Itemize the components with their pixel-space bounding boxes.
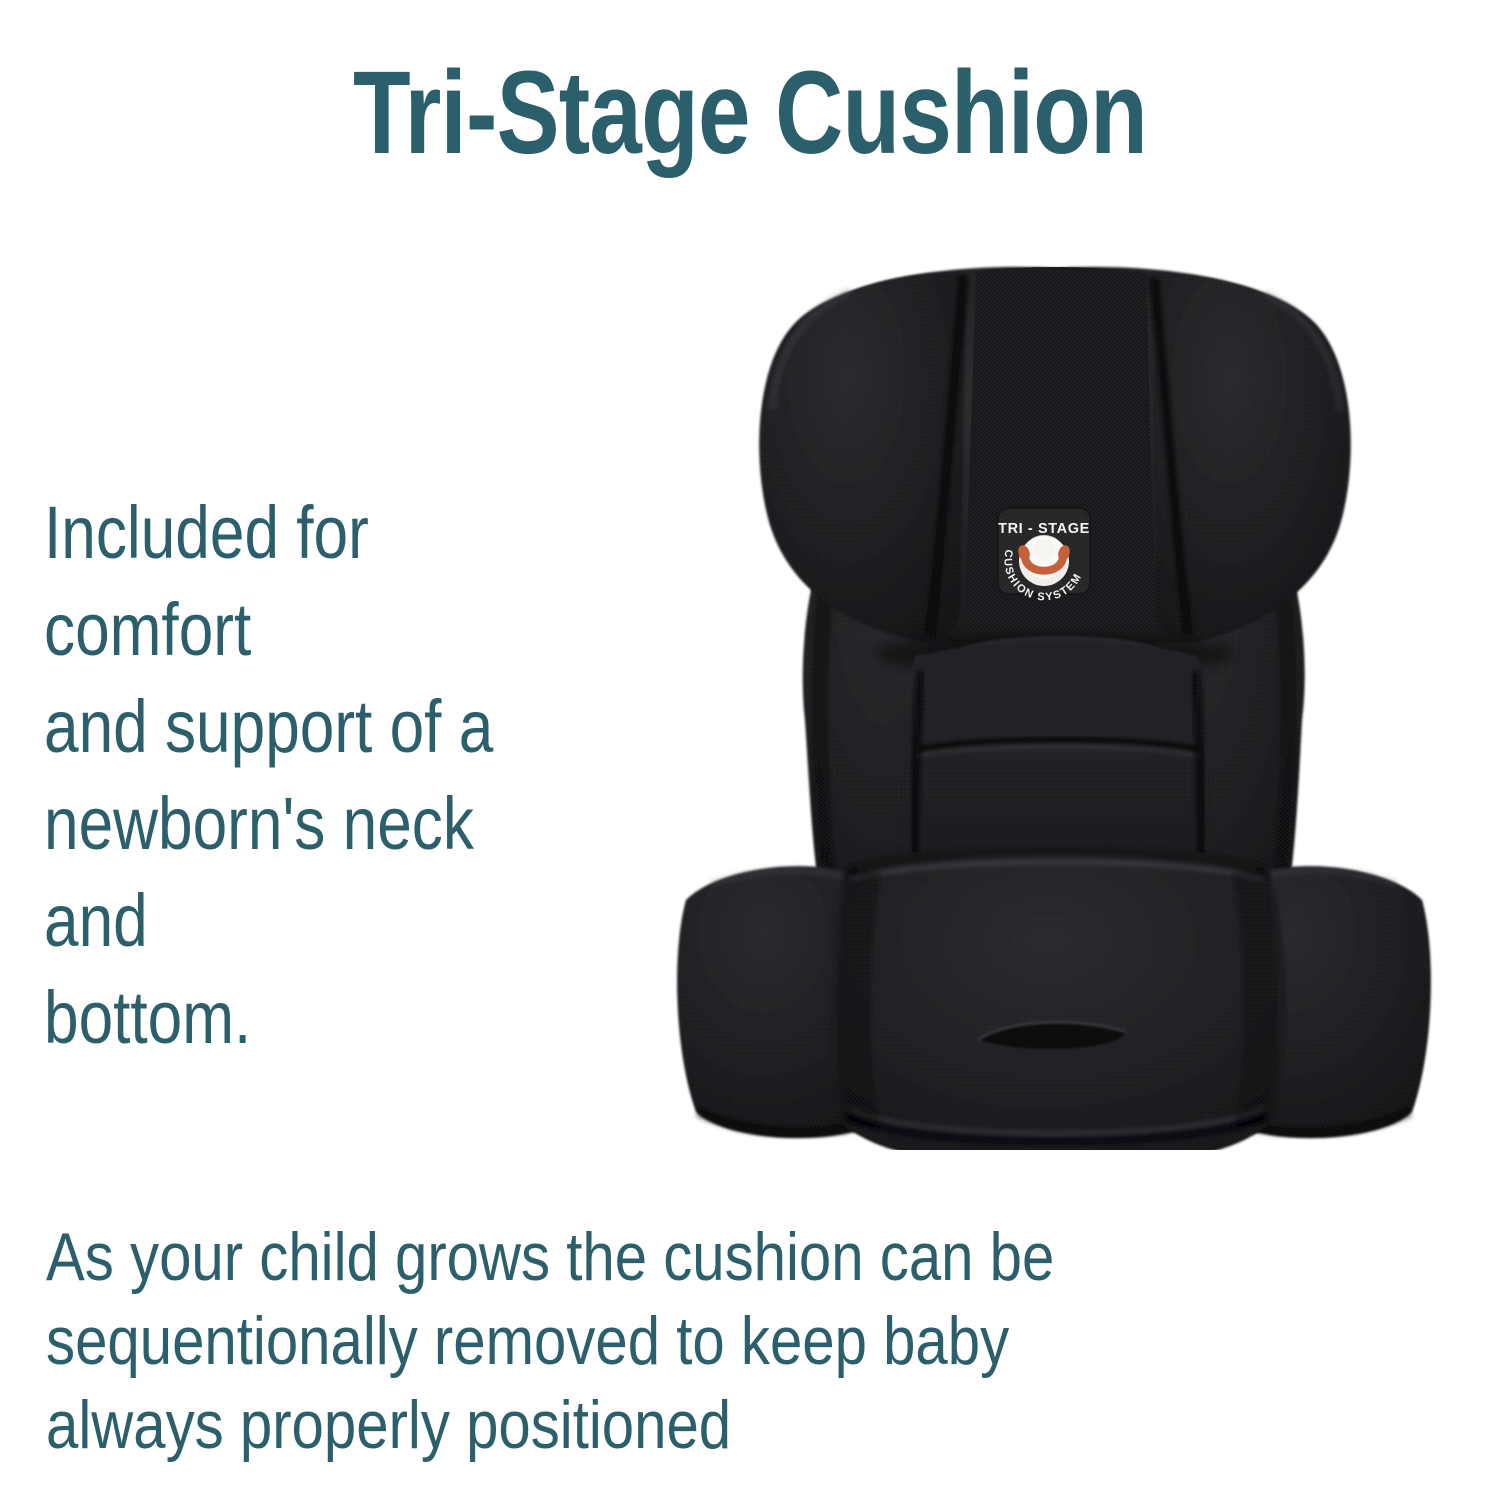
- lead-line: and support of a: [44, 678, 582, 775]
- page-title: Tri-Stage Cushion: [150, 54, 1350, 172]
- lead-paragraph: Included for comfort and support of a ne…: [44, 484, 582, 1066]
- lead-line: newborn's neck and: [44, 775, 582, 969]
- label-top-text: TRI - STAGE: [998, 521, 1090, 537]
- lead-line: bottom.: [44, 969, 582, 1066]
- infographic-page: Tri-Stage Cushion Included for comfort a…: [0, 0, 1500, 1500]
- closing-line: sequentionally removed to keep baby: [46, 1299, 1286, 1383]
- product-label-badge: TRI - STAGE CUSHION SYSTEM: [998, 508, 1090, 604]
- closing-line: always properly positioned: [46, 1383, 1286, 1467]
- product-image: TRI - STAGE CUSHION SYSTEM: [600, 250, 1500, 1150]
- seat-pad: [828, 845, 1286, 1150]
- closing-paragraph: As your child grows the cushion can be s…: [46, 1215, 1286, 1467]
- lead-line: Included for comfort: [44, 484, 582, 678]
- closing-line: As your child grows the cushion can be: [46, 1215, 1286, 1299]
